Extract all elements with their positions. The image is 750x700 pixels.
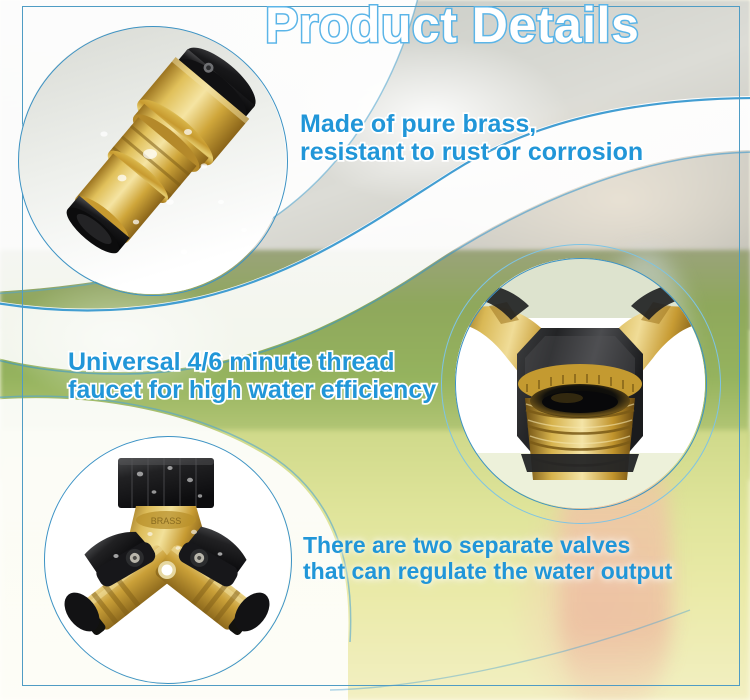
photo-y-splitter-valve: BRASS (44, 436, 290, 682)
svg-text:BRASS: BRASS (151, 516, 182, 526)
feature-text-universal-thread: Universal 4/6 minute thread faucet for h… (68, 348, 436, 404)
product-details-infographic: BRASS (0, 0, 750, 700)
brass-quick-connector-art (18, 26, 286, 294)
feature-text-pure-brass: Made of pure brass, resistant to rust or… (300, 110, 643, 166)
threaded-faucet-adapter-art (455, 258, 705, 508)
feature-text-two-valves: There are two separate valves that can r… (303, 533, 672, 585)
y-splitter-valve-art: BRASS (44, 436, 290, 682)
photo-brass-quick-connector (18, 26, 286, 294)
photo-threaded-faucet-adapter (455, 258, 705, 508)
page-title: Product Details (265, 0, 639, 54)
